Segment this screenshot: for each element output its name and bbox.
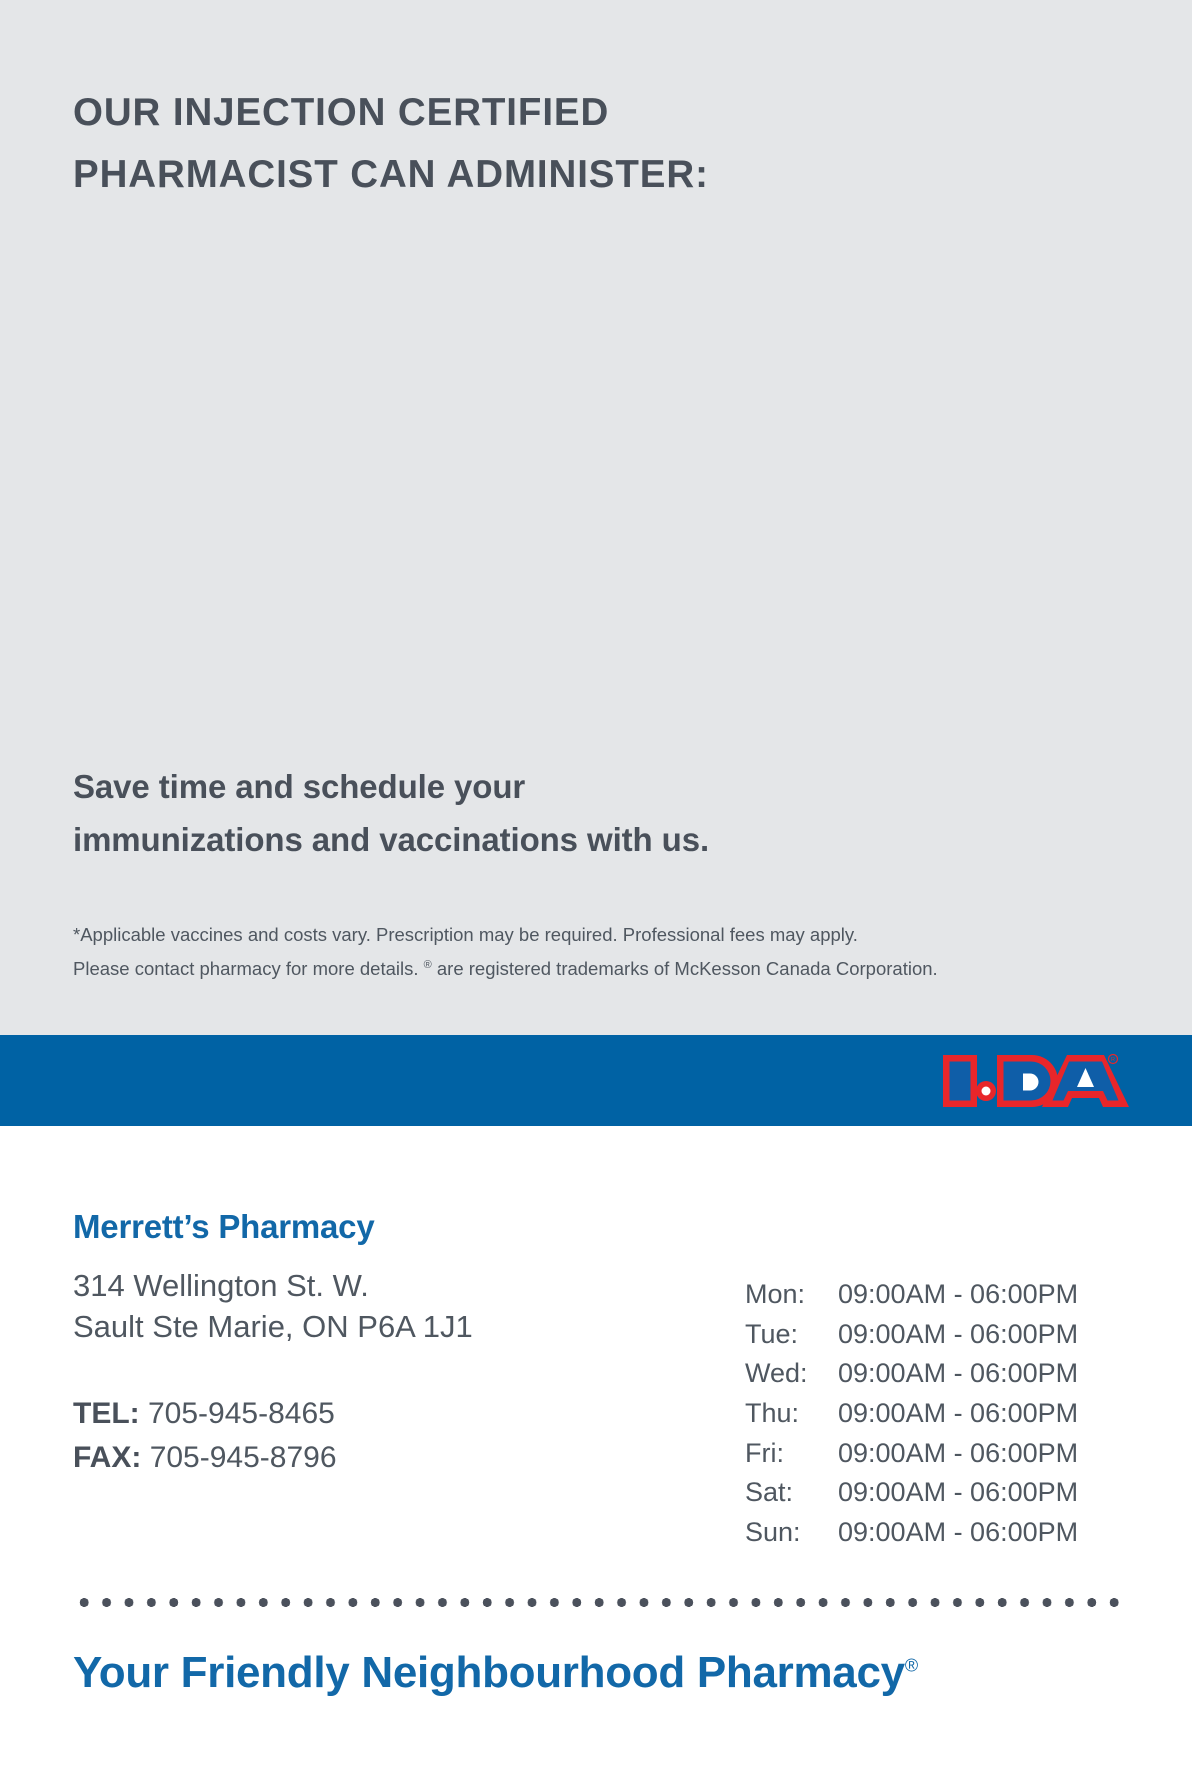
store-hours-table: Mon: 09:00AM - 06:00PM Tue: 09:00AM - 06… bbox=[745, 1275, 1078, 1552]
hours-span: 09:00AM - 06:00PM bbox=[838, 1358, 1078, 1389]
hours-day: Tue: bbox=[745, 1319, 838, 1350]
hours-span: 09:00AM - 06:00PM bbox=[838, 1279, 1078, 1310]
tagline-text: Your Friendly Neighbourhood Pharmacy bbox=[73, 1648, 905, 1697]
telephone-row: TEL: 705-945-8465 bbox=[73, 1392, 337, 1436]
address-line-1: 314 Wellington St. W. bbox=[73, 1265, 473, 1306]
hours-day: Fri: bbox=[745, 1438, 838, 1469]
subheading-line-2: immunizations and vaccinations with us. bbox=[73, 813, 953, 866]
store-address: 314 Wellington St. W. Sault Ste Marie, O… bbox=[73, 1265, 473, 1347]
table-row: Sat: 09:00AM - 06:00PM bbox=[745, 1473, 1078, 1513]
table-row: Mon: 09:00AM - 06:00PM bbox=[745, 1275, 1078, 1315]
fax-label: FAX: bbox=[73, 1441, 141, 1474]
legal-disclaimer: *Applicable vaccines and costs vary. Pre… bbox=[73, 920, 1133, 984]
tagline: Your Friendly Neighbourhood Pharmacy® bbox=[73, 1648, 918, 1698]
table-row: Fri: 09:00AM - 06:00PM bbox=[745, 1433, 1078, 1473]
page-title: OUR INJECTION CERTIFIED PHARMACIST CAN A… bbox=[73, 82, 973, 206]
hours-span: 09:00AM - 06:00PM bbox=[838, 1319, 1078, 1350]
hours-span: 09:00AM - 06:00PM bbox=[838, 1398, 1078, 1429]
headline-line-1: OUR INJECTION CERTIFIED bbox=[73, 82, 973, 144]
hours-day: Sat: bbox=[745, 1477, 838, 1508]
hours-span: 09:00AM - 06:00PM bbox=[838, 1438, 1078, 1469]
store-contact: TEL: 705-945-8465 FAX: 705-945-8796 bbox=[73, 1392, 337, 1480]
registered-mark-icon: ® bbox=[905, 1655, 918, 1675]
table-row: Thu: 09:00AM - 06:00PM bbox=[745, 1394, 1078, 1434]
headline-line-2: PHARMACIST CAN ADMINISTER: bbox=[73, 144, 973, 206]
telephone-value[interactable]: 705-945-8465 bbox=[148, 1397, 335, 1430]
hours-span: 09:00AM - 06:00PM bbox=[838, 1477, 1078, 1508]
hours-day: Mon: bbox=[745, 1279, 838, 1310]
subheading: Save time and schedule your immunization… bbox=[73, 760, 953, 866]
fax-row: FAX: 705-945-8796 bbox=[73, 1436, 337, 1480]
table-row: Wed: 09:00AM - 06:00PM bbox=[745, 1354, 1078, 1394]
legal-line-2: Please contact pharmacy for more details… bbox=[73, 950, 1133, 984]
telephone-label: TEL: bbox=[73, 1397, 140, 1430]
table-row: Sun: 09:00AM - 06:00PM bbox=[745, 1513, 1078, 1553]
promo-panel: OUR INJECTION CERTIFIED PHARMACIST CAN A… bbox=[0, 0, 1192, 1035]
hours-day: Thu: bbox=[745, 1398, 838, 1429]
legal-line-1: *Applicable vaccines and costs vary. Pre… bbox=[73, 920, 1133, 950]
flyer-page: OUR INJECTION CERTIFIED PHARMACIST CAN A… bbox=[0, 0, 1192, 1785]
fax-value: 705-945-8796 bbox=[150, 1441, 337, 1474]
ida-logo: R bbox=[934, 1046, 1129, 1116]
store-name: Merrett’s Pharmacy bbox=[73, 1208, 375, 1246]
divider bbox=[73, 1598, 1125, 1607]
hours-day: Wed: bbox=[745, 1358, 838, 1389]
table-row: Tue: 09:00AM - 06:00PM bbox=[745, 1315, 1078, 1355]
hours-day: Sun: bbox=[745, 1517, 838, 1548]
svg-text:R: R bbox=[1111, 1057, 1115, 1063]
registered-mark-icon: ® bbox=[424, 959, 432, 971]
legal-line-2-after: are registered trademarks of McKesson Ca… bbox=[432, 958, 938, 979]
address-line-2: Sault Ste Marie, ON P6A 1J1 bbox=[73, 1306, 473, 1347]
legal-line-2-before: Please contact pharmacy for more details… bbox=[73, 958, 424, 979]
hours-span: 09:00AM - 06:00PM bbox=[838, 1517, 1078, 1548]
subheading-line-1: Save time and schedule your bbox=[73, 760, 953, 813]
